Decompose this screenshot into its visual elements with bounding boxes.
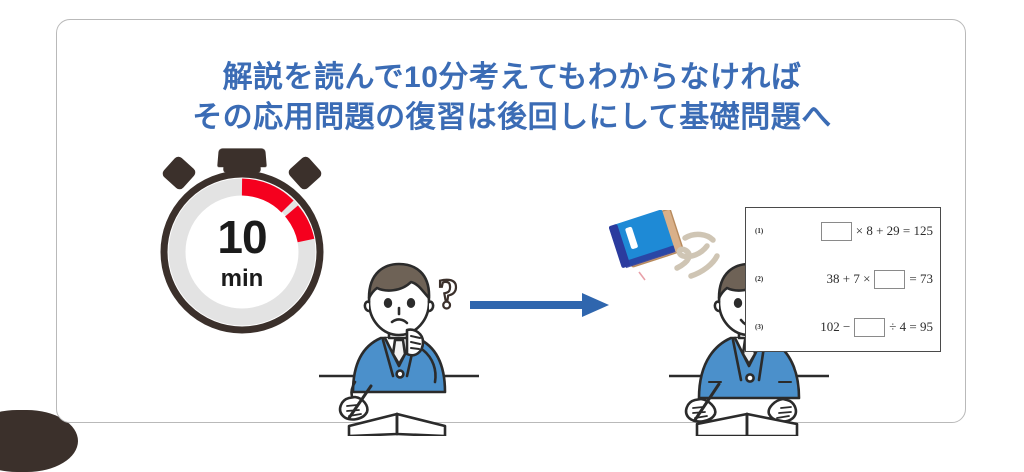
math-problems-panel: (1) × 8 + 29 = 125 (2) 38 + 7 × = 73 (3)… bbox=[745, 207, 941, 352]
math-problem-equation: 38 + 7 × = 73 bbox=[826, 270, 933, 289]
question-mark-icon: ? bbox=[425, 270, 471, 326]
stopwatch-graphic: 10 min bbox=[152, 148, 332, 333]
math-equation-text: × 8 + 29 = 125 bbox=[856, 223, 933, 239]
math-problem-row: (3) 102 − ÷ 4 = 95 bbox=[746, 314, 942, 340]
math-problem-number: (3) bbox=[755, 323, 763, 331]
math-problem-number: (2) bbox=[755, 275, 763, 283]
math-equation-text: 38 + 7 × bbox=[826, 271, 870, 287]
math-problem-equation: 102 − ÷ 4 = 95 bbox=[820, 318, 933, 337]
headline-line-2: その応用問題の復習は後回しにして基礎問題へ bbox=[57, 98, 967, 138]
math-equation-text: ÷ 4 = 95 bbox=[889, 319, 933, 335]
answer-blank-box[interactable] bbox=[854, 318, 885, 337]
stopwatch-unit-label: min bbox=[221, 267, 264, 291]
math-problem-row: (2) 38 + 7 × = 73 bbox=[746, 266, 942, 292]
question-mark-glyph: ? bbox=[438, 272, 459, 318]
stopwatch-time-label: 10 min bbox=[160, 170, 324, 334]
page-title: 解説を読んで10分考えてもわからなければ その応用問題の復習は後回しにして基礎問… bbox=[57, 58, 967, 138]
answer-blank-box[interactable] bbox=[874, 270, 905, 289]
flow-arrow-icon bbox=[470, 292, 610, 318]
slide-card: 解説を読んで10分考えてもわからなければ その応用問題の復習は後回しにして基礎問… bbox=[56, 19, 966, 423]
headline-line-1: 解説を読んで10分考えてもわからなければ bbox=[57, 58, 967, 98]
math-equation-text: = 73 bbox=[909, 271, 933, 287]
math-equation-text: 102 − bbox=[820, 319, 850, 335]
math-problem-number: (1) bbox=[755, 227, 763, 235]
math-problem-equation: × 8 + 29 = 125 bbox=[821, 222, 933, 241]
answer-blank-box[interactable] bbox=[821, 222, 852, 241]
stopwatch-minutes-value: 10 bbox=[217, 214, 266, 260]
stopwatch-crown-button-icon bbox=[217, 148, 267, 167]
math-problem-row: (1) × 8 + 29 = 125 bbox=[746, 218, 942, 244]
